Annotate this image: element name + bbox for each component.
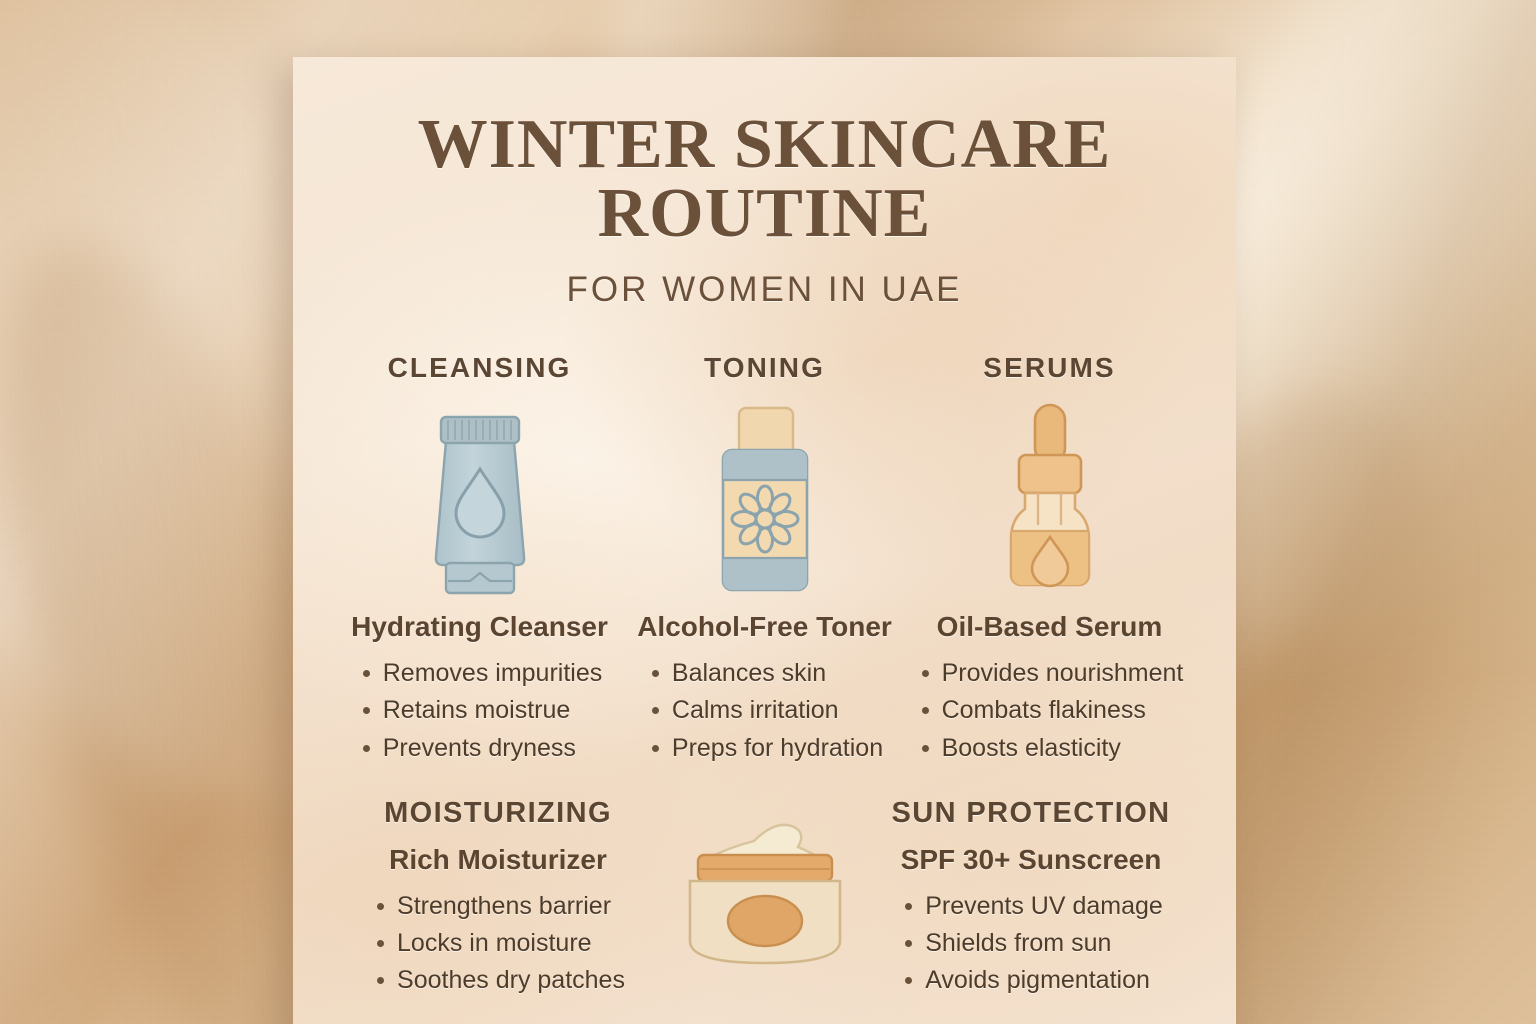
benefit-list-serums: Provides nourishment Combats flakiness B… <box>916 655 1184 767</box>
step-heading-cleansing: CLEANSING <box>388 352 572 384</box>
step-sun-protection: SUN PROTECTION SPF 30+ Sunscreen Prevent… <box>870 797 1192 1000</box>
title-line-1: WINTER SKINCARE <box>418 106 1112 183</box>
moisturizer-jar-icon <box>659 797 870 976</box>
list-item: Avoids pigmentation <box>899 962 1163 999</box>
title-line-2: ROUTINE <box>337 180 1192 249</box>
step-heading-moisturizing: MOISTURIZING <box>384 797 612 830</box>
step-heading-toning: TONING <box>704 352 825 384</box>
product-name-serum: Oil-Based Serum <box>937 611 1163 643</box>
list-item: Removes impurities <box>357 655 603 692</box>
step-toning: TONING <box>622 352 907 767</box>
step-serums: SERUMS <box>907 352 1192 767</box>
benefit-list-cleansing: Removes impurities Retains moistrue Prev… <box>357 655 603 767</box>
cleanser-tube-icon <box>424 392 536 597</box>
screenshot-root: WINTER SKINCARE ROUTINE FOR WOMEN IN UAE… <box>0 0 1536 1024</box>
list-item: Boosts elasticity <box>916 730 1184 767</box>
list-item: Retains moistrue <box>357 692 603 729</box>
product-name-sunscreen: SPF 30+ Sunscreen <box>901 844 1162 876</box>
list-item: Provides nourishment <box>916 655 1184 692</box>
list-item: Shields from sun <box>899 925 1163 962</box>
list-item: Combats flakiness <box>916 692 1184 729</box>
list-item: Locks in moisture <box>371 925 625 962</box>
benefit-list-toning: Balances skin Calms irritation Preps for… <box>646 655 883 767</box>
product-name-toner: Alcohol-Free Toner <box>637 611 892 643</box>
product-name-moisturizer: Rich Moisturizer <box>389 844 607 876</box>
benefit-list-moisturizing: Strengthens barrier Locks in moisture So… <box>371 888 625 1000</box>
skincare-poster: WINTER SKINCARE ROUTINE FOR WOMEN IN UAE… <box>293 57 1236 1024</box>
step-heading-serums: SERUMS <box>983 352 1115 384</box>
list-item: Preps for hydration <box>646 730 883 767</box>
step-cleansing: CLEANSING <box>337 352 622 767</box>
list-item: Strengthens barrier <box>371 888 625 925</box>
page-title: WINTER SKINCARE ROUTINE <box>337 111 1192 248</box>
list-item: Prevents dryness <box>357 730 603 767</box>
list-item: Balances skin <box>646 655 883 692</box>
serum-dropper-icon <box>995 392 1105 597</box>
list-item: Calms irritation <box>646 692 883 729</box>
routine-steps-row: CLEANSING <box>337 352 1192 767</box>
step-heading-sun-protection: SUN PROTECTION <box>892 797 1171 830</box>
list-item: Soothes dry patches <box>371 962 625 999</box>
toner-bottle-icon <box>713 392 817 597</box>
routine-steps-bottom-row: MOISTURIZING Rich Moisturizer Strengthen… <box>337 797 1192 1000</box>
benefit-list-sun-protection: Prevents UV damage Shields from sun Avoi… <box>899 888 1163 1000</box>
page-subtitle: FOR WOMEN IN UAE <box>337 270 1192 310</box>
step-moisturizing: MOISTURIZING Rich Moisturizer Strengthen… <box>337 797 659 1000</box>
list-item: Prevents UV damage <box>899 888 1163 925</box>
product-name-cleanser: Hydrating Cleanser <box>351 611 608 643</box>
